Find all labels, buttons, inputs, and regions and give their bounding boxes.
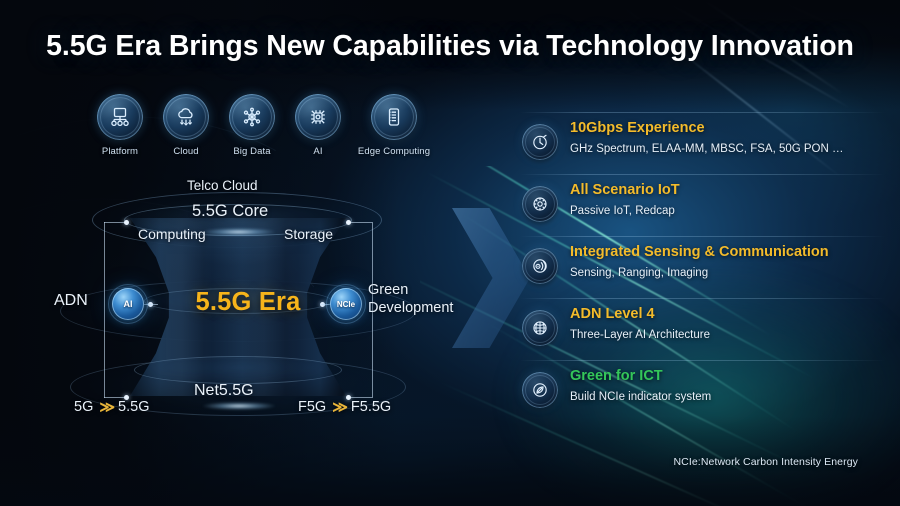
cloud-icon	[163, 94, 209, 140]
capability-item-10gbps[interactable]: 10Gbps Experience GHz Spectrum, ELAA-MM,…	[516, 112, 888, 174]
label-storage: Storage	[284, 226, 333, 242]
connector-left-vertical	[104, 222, 105, 398]
brain-network-icon	[522, 310, 558, 346]
technology-icon-row: Platform Cloud	[92, 94, 432, 157]
transition-f5g: F5G ≫ F5.5G	[298, 398, 391, 416]
connector-dot-top-left	[124, 220, 129, 225]
capability-title: 10Gbps Experience	[570, 112, 888, 136]
badge-ncie[interactable]: NCIe	[330, 288, 362, 320]
speed-gauge-icon	[522, 124, 558, 160]
capability-subtitle: Passive IoT, Redcap	[570, 198, 888, 218]
transition-from: 5G	[74, 399, 93, 415]
page-title: 5.5G Era Brings New Capabilities via Tec…	[0, 30, 900, 63]
label-5-5g-era: 5.5G Era	[158, 288, 338, 317]
label-net5-5g: Net5.5G	[194, 382, 254, 400]
transition-5g: 5G ≫ 5.5G	[74, 398, 149, 416]
double-chevron-icon: ≫	[332, 398, 345, 416]
capability-title: Integrated Sensing & Communication	[570, 236, 888, 260]
capability-subtitle: GHz Spectrum, ELAA-MM, MBSC, FSA, 50G PO…	[570, 136, 888, 156]
hourglass-diagram: Telco Cloud 5.5G Core Computing Storage …	[52, 170, 472, 430]
tech-icon-label: Cloud	[173, 146, 198, 157]
capability-item-green-for-ict[interactable]: Green for ICT Build NCIe indicator syste…	[516, 360, 888, 422]
capability-list: 10Gbps Experience GHz Spectrum, ELAA-MM,…	[516, 112, 888, 422]
connector-left-top	[104, 222, 126, 223]
tech-icon-label: Edge Computing	[358, 146, 430, 157]
item-separator	[520, 174, 886, 175]
item-separator	[520, 112, 886, 113]
capability-item-sensing-communication[interactable]: Integrated Sensing & Communication Sensi…	[516, 236, 888, 298]
big-data-icon	[229, 94, 275, 140]
label-telco-cloud: Telco Cloud	[187, 178, 258, 193]
tech-icon-cloud[interactable]: Cloud	[158, 94, 214, 157]
capability-subtitle: Sensing, Ranging, Imaging	[570, 260, 888, 280]
capability-subtitle: Three-Layer AI Architecture	[570, 322, 888, 342]
platform-icon	[97, 94, 143, 140]
capability-item-adn-level-4[interactable]: ADN Level 4 Three-Layer AI Architecture	[516, 298, 888, 360]
iot-network-icon	[522, 186, 558, 222]
tech-icon-platform[interactable]: Platform	[92, 94, 148, 157]
leaf-icon	[522, 372, 558, 408]
label-adn: ADN	[54, 292, 88, 310]
capability-title: ADN Level 4	[570, 298, 888, 322]
green-development-line1: Green	[368, 282, 453, 300]
connector-right-top	[350, 222, 372, 223]
ai-chip-icon	[295, 94, 341, 140]
footnote: NCIe:Network Carbon Intensity Energy	[673, 456, 858, 468]
slide-canvas: 5.5G Era Brings New Capabilities via Tec…	[0, 0, 900, 506]
tech-icon-label: Big Data	[233, 146, 270, 157]
hourglass-ring-bottom	[134, 356, 342, 384]
label-computing: Computing	[138, 226, 206, 242]
capability-title: Green for ICT	[570, 360, 888, 384]
item-separator	[520, 360, 886, 361]
badge-ai[interactable]: AI	[112, 288, 144, 320]
label-green-development: Green Development	[368, 282, 453, 317]
sensing-radar-icon	[522, 248, 558, 284]
double-chevron-icon: ≫	[99, 398, 112, 416]
glow-plate-bottom	[202, 402, 276, 410]
tech-icon-edge-computing[interactable]: Edge Computing	[356, 94, 432, 157]
tech-icon-ai[interactable]: AI	[290, 94, 346, 157]
tech-icon-big-data[interactable]: Big Data	[224, 94, 280, 157]
item-separator	[520, 236, 886, 237]
tech-icon-label: AI	[313, 146, 322, 157]
connector-dot-top-right	[346, 220, 351, 225]
tech-icon-label: Platform	[102, 146, 138, 157]
transition-from: F5G	[298, 399, 326, 415]
label-5-5g-core: 5.5G Core	[192, 202, 268, 221]
transition-to: 5.5G	[118, 399, 149, 415]
transition-to: F5.5G	[351, 399, 391, 415]
edge-computing-icon	[371, 94, 417, 140]
capability-subtitle: Build NCIe indicator system	[570, 384, 888, 404]
green-development-line2: Development	[368, 300, 453, 318]
capability-item-all-scenario-iot[interactable]: All Scenario IoT Passive IoT, Redcap	[516, 174, 888, 236]
capability-title: All Scenario IoT	[570, 174, 888, 198]
item-separator	[520, 298, 886, 299]
glow-plate-top	[202, 228, 276, 236]
